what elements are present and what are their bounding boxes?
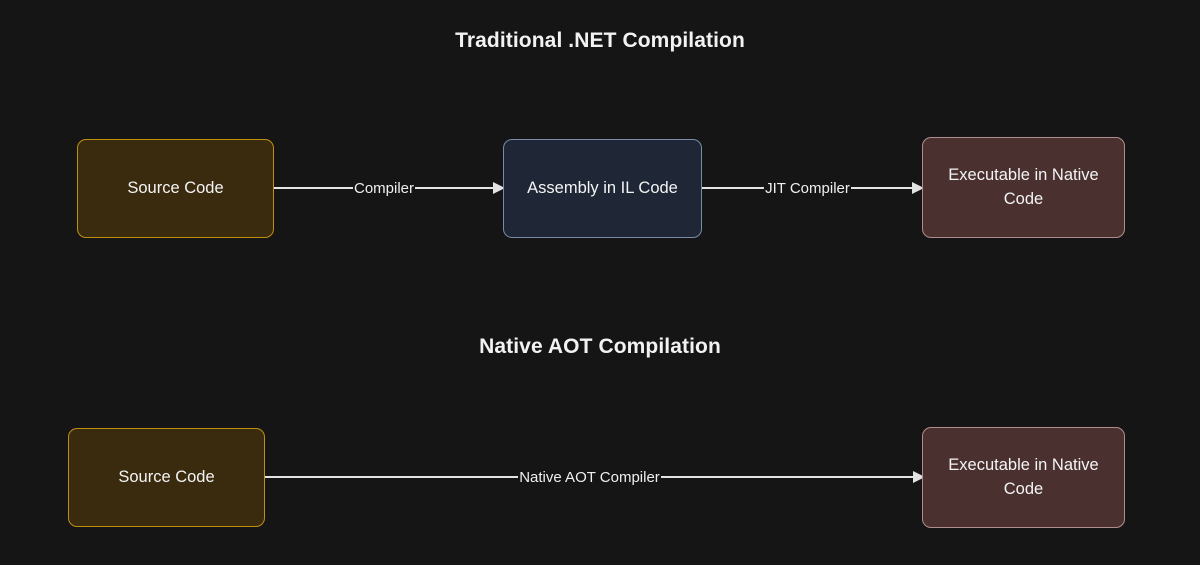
edge-jit-compiler: JIT Compiler: [702, 177, 924, 199]
edge-label-jit-compiler: JIT Compiler: [764, 181, 851, 196]
node-executable-native-code-traditional[interactable]: Executable in Native Code: [922, 137, 1125, 238]
node-executable-native-code-aot[interactable]: Executable in Native Code: [922, 427, 1125, 528]
section-title-traditional: Traditional .NET Compilation: [0, 29, 1200, 53]
node-label: Executable in Native Code: [933, 454, 1114, 502]
edge-label-native-aot-compiler: Native AOT Compiler: [518, 470, 661, 485]
node-label: Assembly in IL Code: [527, 177, 678, 201]
edge-line-left: [702, 187, 764, 189]
edge-line-right: [661, 476, 914, 478]
edge-line-left: [265, 476, 518, 478]
node-label: Executable in Native Code: [933, 164, 1114, 212]
edge-line-left: [274, 187, 353, 189]
node-assembly-il-code[interactable]: Assembly in IL Code: [503, 139, 702, 238]
edge-native-aot-compiler: Native AOT Compiler: [265, 466, 925, 488]
edge-line-right: [851, 187, 913, 189]
edge-label-compiler: Compiler: [353, 181, 415, 196]
edge-line-right: [415, 187, 494, 189]
node-label: Source Code: [127, 177, 223, 201]
node-label: Source Code: [118, 466, 214, 490]
edge-compiler: Compiler: [274, 177, 505, 199]
node-source-code-aot[interactable]: Source Code: [68, 428, 265, 527]
diagram-canvas: Traditional .NET Compilation Source Code…: [0, 0, 1200, 565]
section-title-native-aot: Native AOT Compilation: [0, 335, 1200, 359]
node-source-code-traditional[interactable]: Source Code: [77, 139, 274, 238]
